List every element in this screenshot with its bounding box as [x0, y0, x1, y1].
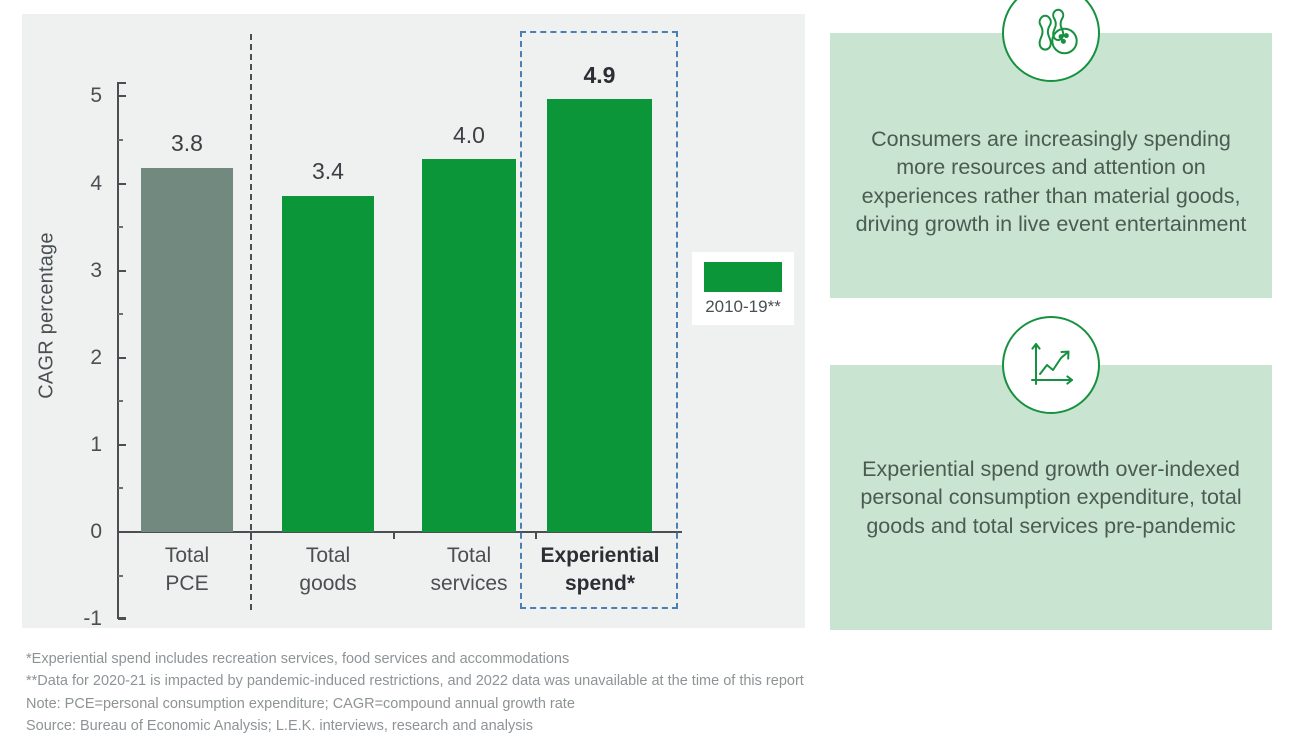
y-tick-5	[118, 95, 126, 97]
y-axis-top-cap	[117, 82, 126, 84]
bowling-icon	[1002, 0, 1100, 82]
y-tick-minor-1-5	[118, 400, 123, 402]
x-label-total-services: Total services	[410, 542, 528, 599]
callout-text-experiential-growth: Experiential spend growth over-indexed p…	[854, 455, 1248, 540]
x-label-total-pce-line2: PCE	[131, 570, 243, 598]
footnote-note-definitions: Note: PCE=personal consumption expenditu…	[26, 693, 1026, 715]
y-tick-minus-1	[118, 618, 126, 620]
x-label-total-pce-line1: Total	[131, 542, 243, 570]
x-label-total-services-line2: services	[410, 570, 528, 598]
legend-swatch-2010-19	[704, 262, 782, 292]
growth-chart-icon	[1002, 316, 1100, 414]
x-label-total-goods-line2: goods	[270, 570, 386, 598]
legend-label-2010-19: 2010-19**	[704, 297, 782, 317]
y-tick-1	[118, 444, 126, 446]
chart-panel: 5 4 3 2 1 0 -1 CAGR percentage 3.8 3.4 4…	[22, 14, 805, 628]
callout-text-consumers: Consumers are increasingly spending more…	[854, 125, 1248, 239]
footnote-data-pandemic: **Data for 2020-21 is impacted by pandem…	[26, 670, 1026, 692]
y-tick-3	[118, 270, 126, 272]
category-divider-dashed-line	[250, 34, 252, 610]
footnotes-block: *Experiential spend includes recreation …	[26, 648, 1026, 738]
y-tick-label-0: 0	[42, 521, 102, 542]
footnote-source: Source: Bureau of Economic Analysis; L.E…	[26, 715, 1026, 737]
x-label-total-pce: Total PCE	[131, 542, 243, 599]
x-label-total-goods: Total goods	[270, 542, 386, 599]
bar-total-goods[interactable]	[282, 196, 374, 532]
bar-chart-plot-area: 5 4 3 2 1 0 -1 CAGR percentage 3.8 3.4 4…	[22, 14, 805, 628]
chart-legend: 2010-19**	[692, 252, 794, 325]
callout-card-consumers: Consumers are increasingly spending more…	[830, 33, 1272, 298]
y-tick-minor-0-5	[118, 487, 123, 489]
y-tick-0	[118, 531, 126, 533]
y-tick-4	[118, 183, 126, 185]
y-axis-line	[117, 82, 119, 619]
bar-total-pce[interactable]	[141, 168, 233, 532]
y-axis-title: CAGR percentage	[36, 136, 59, 496]
y-tick-label-minus-1: -1	[42, 608, 102, 629]
y-tick-label-5: 5	[42, 85, 102, 106]
y-tick-minor-2-5	[118, 313, 123, 315]
x-tick-1	[250, 531, 252, 539]
bar-total-services[interactable]	[422, 159, 516, 532]
experiential-spend-highlight-box	[520, 31, 678, 609]
x-label-total-goods-line1: Total	[270, 542, 386, 570]
y-tick-minor-minus-0-5	[118, 575, 123, 577]
bar-value-total-pce: 3.8	[141, 132, 233, 155]
y-tick-2	[118, 357, 126, 359]
bar-value-total-goods: 3.4	[282, 160, 374, 183]
x-label-total-services-line1: Total	[410, 542, 528, 570]
footnote-experiential-spend: *Experiential spend includes recreation …	[26, 648, 1026, 670]
bar-value-total-services: 4.0	[422, 124, 516, 147]
y-tick-minor-4-5	[118, 139, 123, 141]
callout-card-experiential-growth: Experiential spend growth over-indexed p…	[830, 365, 1272, 630]
x-tick-2	[393, 531, 395, 539]
y-tick-minor-3-5	[118, 226, 123, 228]
